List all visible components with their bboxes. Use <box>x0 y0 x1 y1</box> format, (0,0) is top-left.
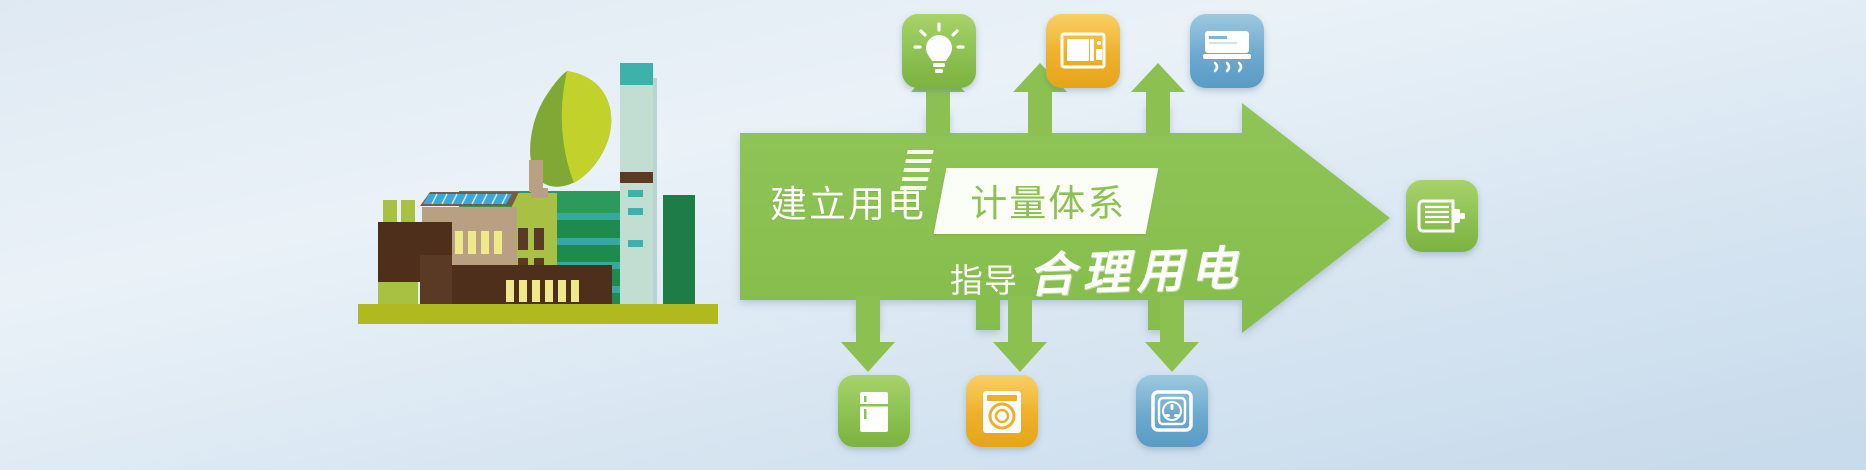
tile-lightbulb[interactable] <box>902 14 976 88</box>
washing-machine-icon <box>983 391 1021 433</box>
tile-refrigerator[interactable] <box>838 375 910 447</box>
illustration-canvas <box>0 0 1866 470</box>
tile-socket[interactable] <box>1136 375 1208 447</box>
up-branch-right <box>1196 92 1220 133</box>
tile-microwave[interactable] <box>1046 14 1120 88</box>
tile-washer[interactable] <box>966 375 1038 447</box>
ground-base <box>358 304 718 324</box>
building-brown-lower <box>452 265 612 310</box>
refrigerator-icon <box>860 392 888 432</box>
tile-airconditioner[interactable] <box>1190 14 1264 88</box>
solar-panel-roof <box>423 194 512 204</box>
tile-motor[interactable] <box>1406 180 1478 252</box>
chimney <box>620 63 657 310</box>
banner-stage: 建立用电 计量体系 指导 合理用电 <box>0 0 1866 470</box>
